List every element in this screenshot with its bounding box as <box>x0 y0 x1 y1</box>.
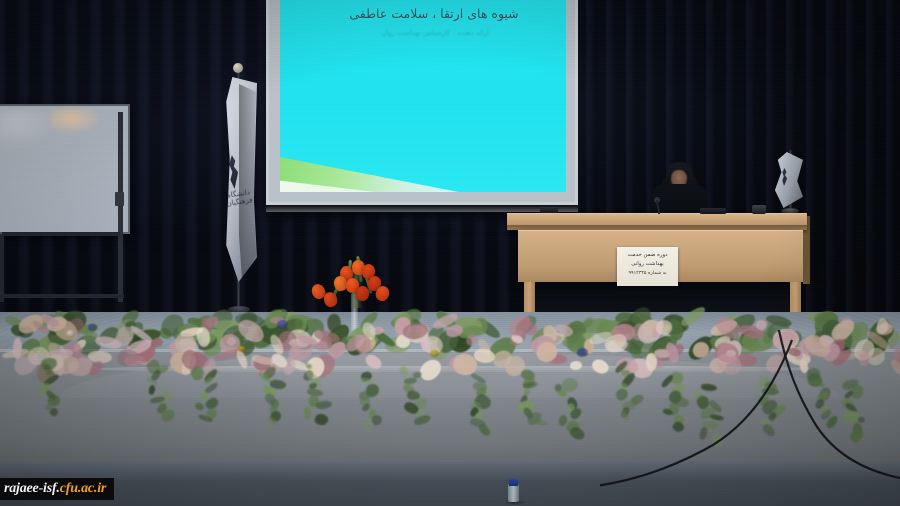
slide-subtitle-text: ارائه دهنده : کارشناس بهداشت روان <box>320 29 550 37</box>
garland-vine-leaf <box>700 383 717 392</box>
tulip-bouquet <box>300 248 400 308</box>
whiteboard-post-right <box>118 112 123 302</box>
garland-accent-bloom <box>277 320 288 329</box>
garland-bloom <box>590 356 611 376</box>
garland-vine-leaf <box>316 401 333 410</box>
podium-object-center <box>700 208 726 214</box>
garland-bloom <box>570 361 583 370</box>
floor-sheen <box>0 462 900 482</box>
podium-object-left <box>540 207 558 213</box>
sign-line-2: بهداشت روانی <box>619 260 676 269</box>
podium-object-right <box>752 205 766 214</box>
garland-vine-leaf <box>843 410 860 423</box>
garland-vine-leaf <box>194 401 206 412</box>
garland-bloom <box>416 356 445 384</box>
flag-fold-shadow-left <box>239 80 256 280</box>
whiteboard-assembly <box>0 104 142 314</box>
garland-vine-leaf <box>615 387 631 402</box>
projection-screen: شیوه های ارتقا ، سلامت عاطفی ارائه دهنده… <box>266 0 578 212</box>
watermark-domain-prefix: rajaee-isf. <box>4 481 60 497</box>
water-bottle <box>508 484 519 502</box>
sign-line-1: دوره ضمن خدمت <box>619 251 676 260</box>
slide-title-text: شیوه های ارتقا ، سلامت عاطفی <box>314 6 554 21</box>
sign-line-3: به شماره ۹۹۱۲۳۴۵ <box>619 269 676 278</box>
flag-finial-left <box>233 63 243 73</box>
garland-vine-leaf <box>314 412 329 426</box>
garland-bloom <box>859 352 871 367</box>
whiteboard-rail-top <box>2 232 120 236</box>
presentation-slide: شیوه های ارتقا ، سلامت عاطفی ارائه دهنده… <box>280 0 566 192</box>
stage-flower-garland <box>0 306 900 426</box>
garland-vine-leaf <box>533 418 549 426</box>
garland-vine-leaf <box>303 407 310 419</box>
garland-bloom <box>363 352 384 373</box>
site-watermark: rajaee-isf.cfu.ac.ir <box>0 478 114 500</box>
garland-bloom <box>889 358 900 376</box>
projection-screen-frame: شیوه های ارتقا ، سلامت عاطفی ارائه دهنده… <box>269 0 575 202</box>
garland-accent-bloom <box>577 348 588 357</box>
whiteboard-surface <box>0 104 130 234</box>
watermark-domain-suffix: cfu.ac.ir <box>60 481 106 497</box>
whiteboard-rail-bottom <box>0 294 124 298</box>
garland-bloom <box>13 338 22 359</box>
water-bottle-cap <box>509 479 518 486</box>
photo-scene: شیوه های ارتقا ، سلامت عاطفی ارائه دهنده… <box>0 0 900 506</box>
garland-vine-leaf <box>398 365 410 378</box>
whiteboard-clamp <box>115 192 124 206</box>
whiteboard-post-left <box>0 234 4 302</box>
podium-paper-sign: دوره ضمن خدمت بهداشت روانی به شماره ۹۹۱۲… <box>617 247 678 286</box>
whiteboard-glare-warm <box>50 108 102 134</box>
